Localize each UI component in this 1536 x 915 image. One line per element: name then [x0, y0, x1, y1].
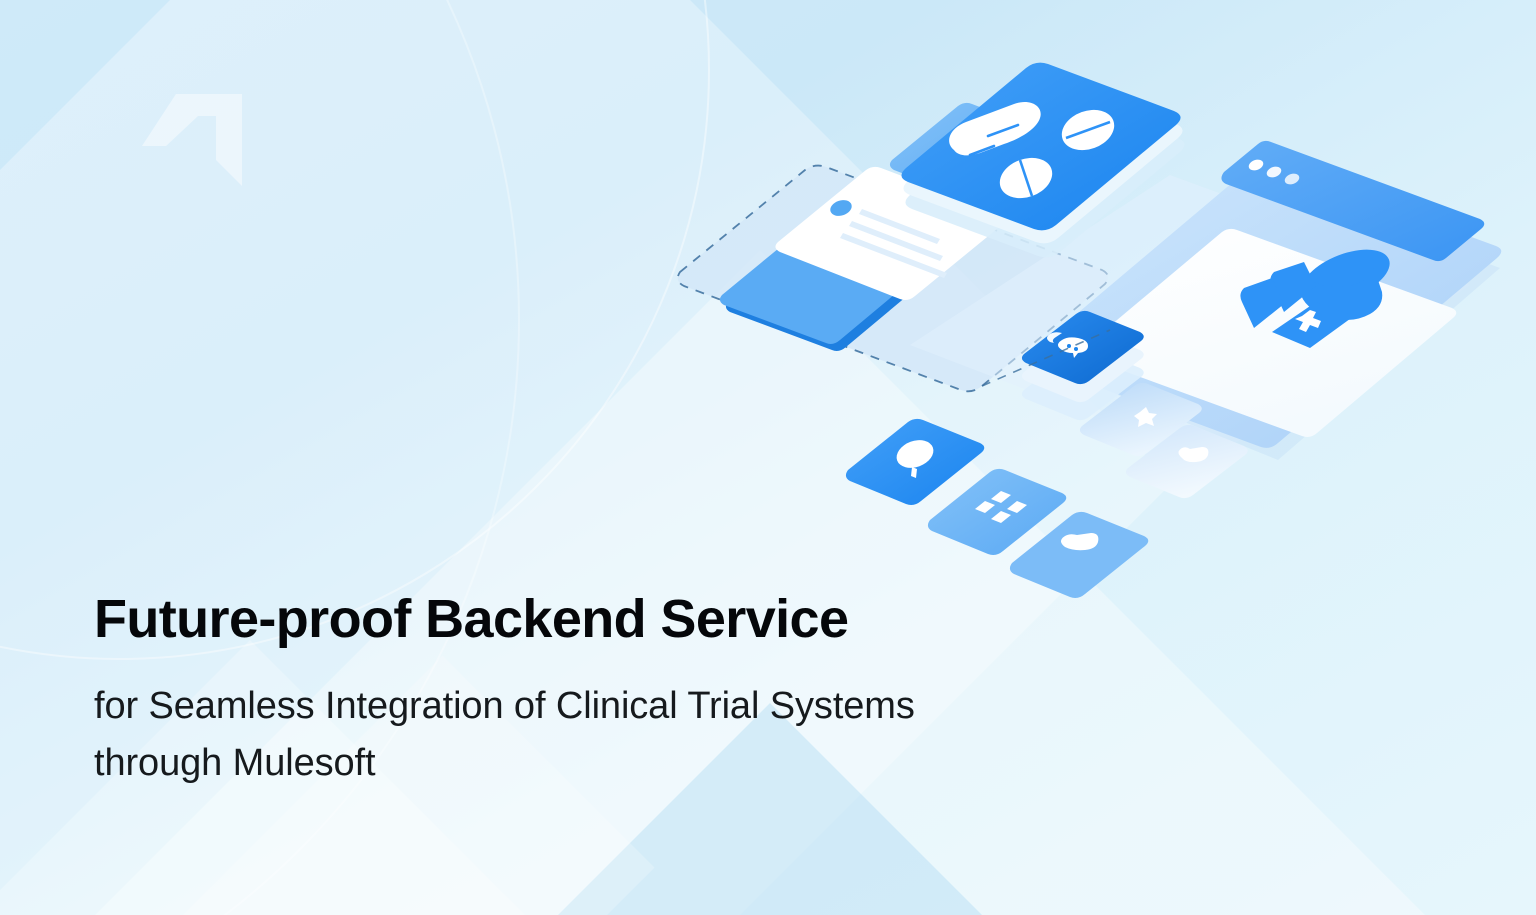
page-subtitle-line-1: for Seamless Integration of Clinical Tri… [94, 678, 1094, 736]
bookmark-icon [1061, 533, 1098, 550]
background-arc-large [0, 0, 710, 660]
page-subtitle: for Seamless Integration of Clinical Tri… [94, 678, 1094, 794]
page-subtitle-line-2: through Mulesoft [94, 735, 1094, 793]
chevron-watermark-icon [138, 86, 248, 191]
hero-illustration [610, 20, 1510, 620]
hero-copy: Future-proof Backend Service for Seamles… [94, 588, 1094, 793]
page-title: Future-proof Backend Service [94, 588, 1094, 652]
location-card [846, 419, 984, 505]
